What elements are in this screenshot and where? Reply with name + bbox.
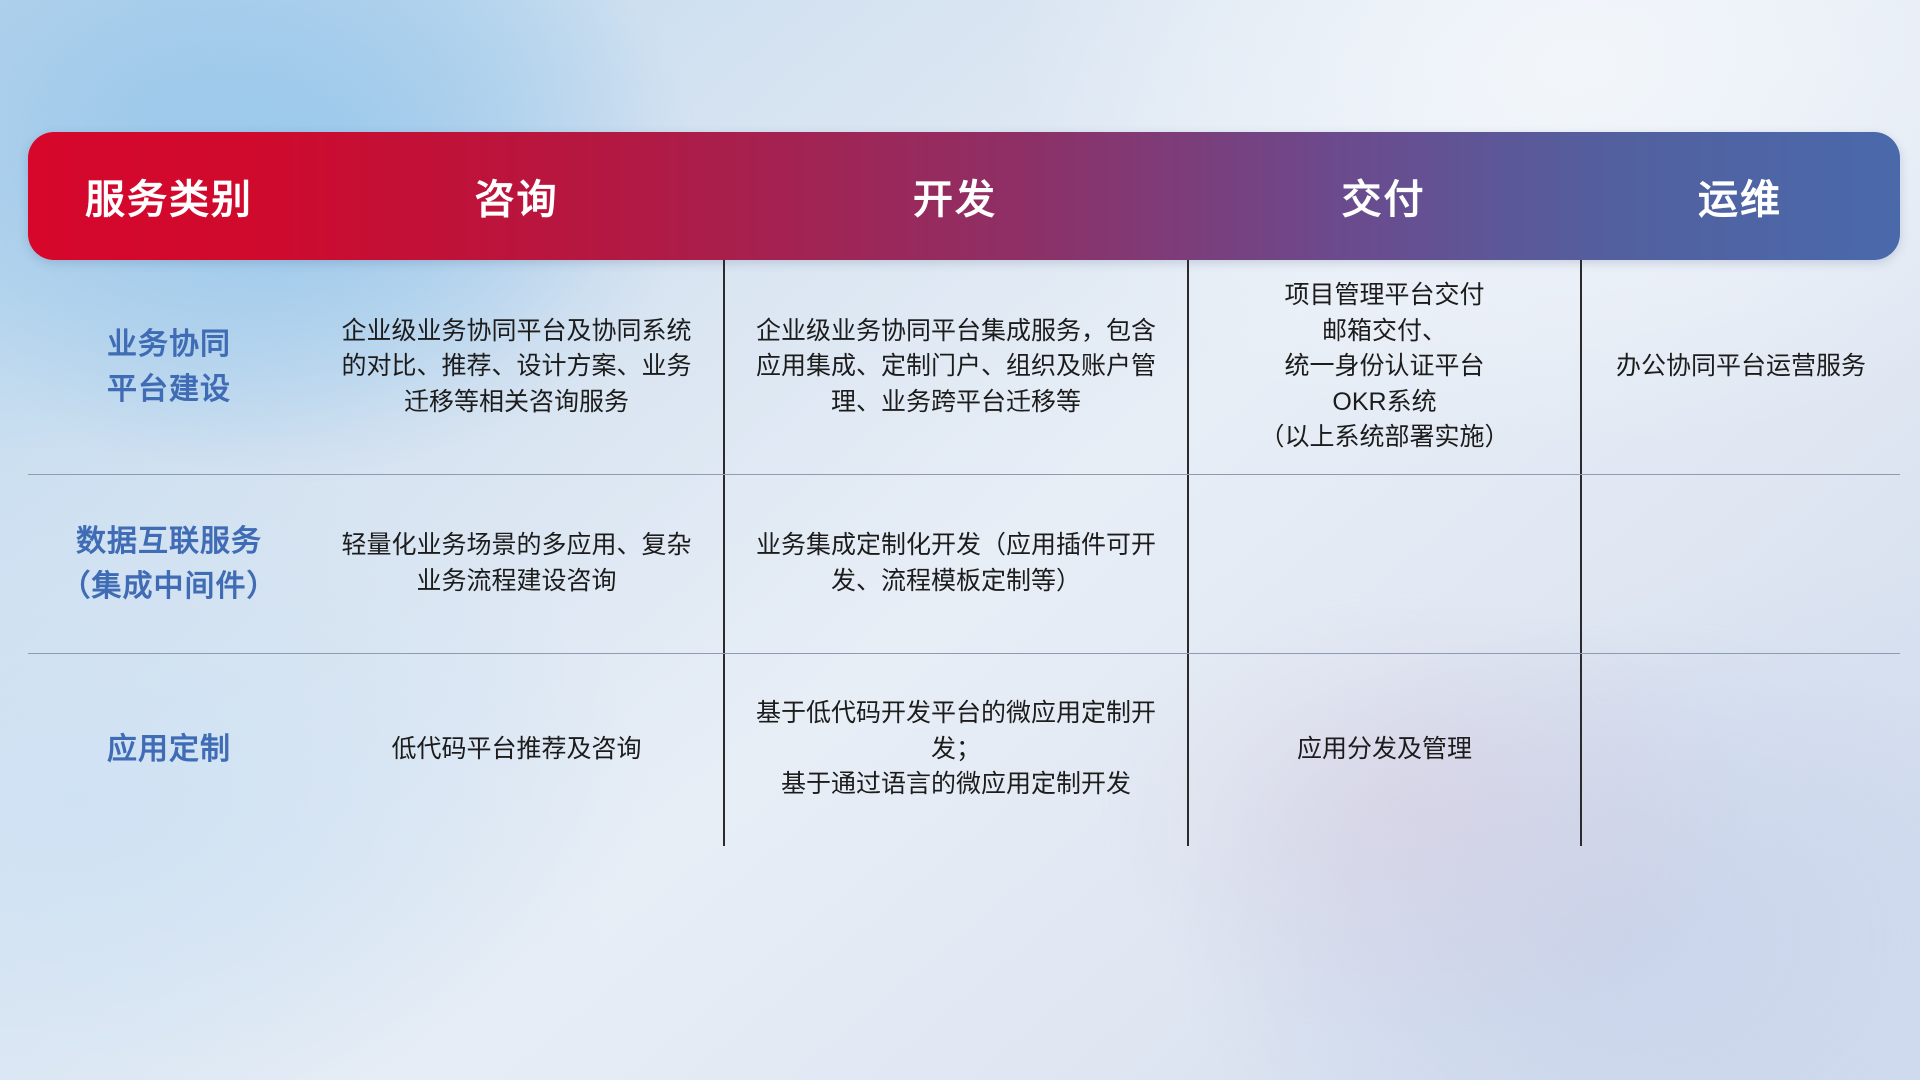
cell-consulting: 企业级业务协同平台及协同系统的对比、推荐、设计方案、业务迁移等相关咨询服务	[310, 260, 723, 474]
service-matrix-table: 服务类别 咨询 开发 交付 运维 业务协同 平台建设 企业级业务协同平台及协同系…	[28, 132, 1900, 846]
cell-consulting: 低代码平台推荐及咨询	[310, 654, 723, 846]
table-row: 数据互联服务 （集成中间件） 轻量化业务场景的多应用、复杂业务流程建设咨询 业务…	[28, 475, 1900, 654]
row-category-label: 业务协同 平台建设	[28, 260, 310, 474]
cell-delivery: 应用分发及管理	[1187, 654, 1580, 846]
column-header-operations: 运维	[1580, 167, 1900, 225]
column-header-delivery: 交付	[1187, 167, 1580, 225]
cell-consulting: 轻量化业务场景的多应用、复杂业务流程建设咨询	[310, 475, 723, 653]
cell-development: 基于低代码开发平台的微应用定制开发； 基于通过语言的微应用定制开发	[723, 654, 1187, 846]
table-row: 业务协同 平台建设 企业级业务协同平台及协同系统的对比、推荐、设计方案、业务迁移…	[28, 260, 1900, 475]
cell-development: 业务集成定制化开发（应用插件可开发、流程模板定制等）	[723, 475, 1187, 653]
table-body: 业务协同 平台建设 企业级业务协同平台及协同系统的对比、推荐、设计方案、业务迁移…	[28, 254, 1900, 846]
cell-delivery: 项目管理平台交付 邮箱交付、 统一身份认证平台 OKR系统 （以上系统部署实施）	[1187, 260, 1580, 474]
cell-development: 企业级业务协同平台集成服务，包含应用集成、定制门户、组织及账户管理、业务跨平台迁…	[723, 260, 1187, 474]
row-category-label: 应用定制	[28, 654, 310, 846]
table-row: 应用定制 低代码平台推荐及咨询 基于低代码开发平台的微应用定制开发； 基于通过语…	[28, 654, 1900, 846]
cell-operations	[1580, 475, 1900, 653]
column-header-category: 服务类别	[28, 167, 310, 225]
cell-operations: 办公协同平台运营服务	[1580, 260, 1900, 474]
column-header-development: 开发	[723, 167, 1187, 225]
column-header-consulting: 咨询	[310, 167, 723, 225]
cell-operations	[1580, 654, 1900, 846]
table-header-row: 服务类别 咨询 开发 交付 运维	[28, 132, 1900, 260]
cell-delivery	[1187, 475, 1580, 653]
row-category-label: 数据互联服务 （集成中间件）	[28, 475, 310, 653]
